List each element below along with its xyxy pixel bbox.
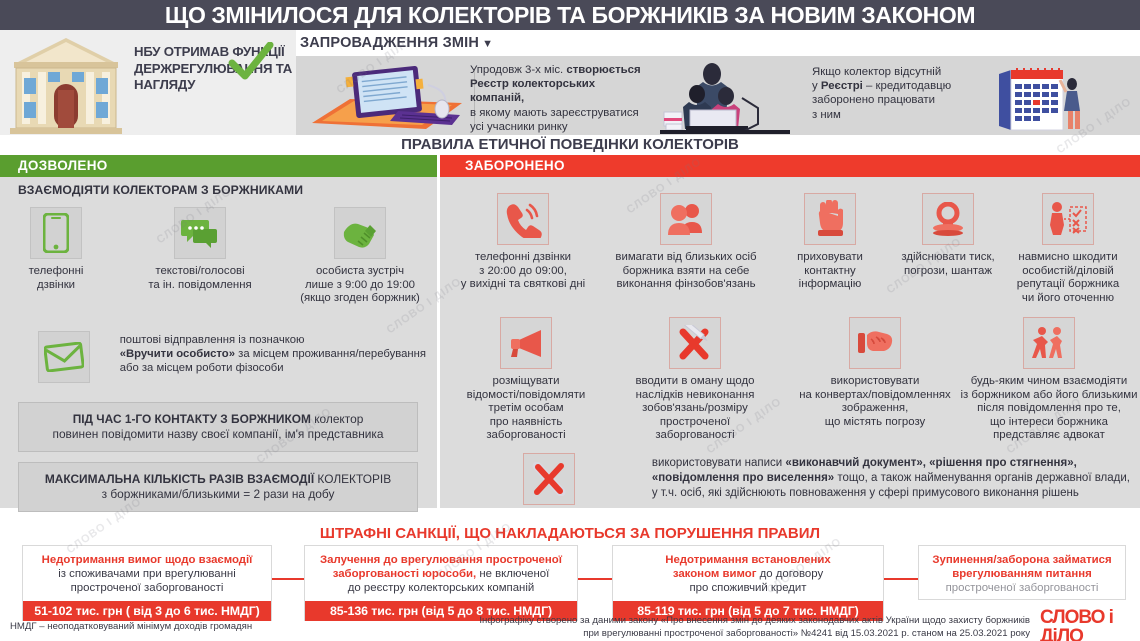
forbidden-item-reputation: навмисно шкодитиособистій/діловійрепутац…	[1002, 193, 1134, 305]
note2-bold: МАКСИМАЛЬНА КІЛЬКІСТЬ РАЗІВ ВЗАЄМОДІЇ	[45, 472, 314, 486]
allowed-note-max-contacts: МАКСИМАЛЬНА КІЛЬКІСТЬ РАЗІВ ВЗАЄМОДІЇ КО…	[18, 462, 418, 512]
forbidden-item-mislead: вводити в оману щодонаслідків невиконанн…	[610, 317, 780, 443]
source-note: Інфографіку створено за даними закону «П…	[380, 615, 1030, 640]
forbidden-item-wording: використовувати написи «виконавчий докум…	[460, 453, 1130, 505]
intro-2-l4: з ним	[812, 109, 841, 121]
slovoidilo-logo[interactable]: СЛОВО і ДіЛО	[1040, 608, 1134, 636]
wording-l3: у т.ч. осіб, які здійснюють повноваження…	[652, 487, 1079, 499]
forbidden-banner: ЗАБОРОНЕНО	[440, 155, 1140, 177]
note1-rest: колектор	[311, 412, 363, 426]
sanction-connector-2	[574, 578, 616, 580]
intro-text-1: Упродовж 3-х міс. створюється Реєстр кол…	[470, 63, 650, 134]
allowed-item-meeting: особиста зустрічлише з 9:00 до 19:00(якщ…	[285, 207, 435, 306]
sanction-1-red: Недотримання вимог щодо взаємодії	[42, 554, 253, 566]
forbidden-item-after-lawyer: будь-яким чином взаємодіятиіз боржником …	[960, 317, 1138, 443]
forbidden-caption-mislead: вводити в оману щодонаслідків невиконанн…	[610, 375, 780, 443]
sanction-card-2: Залучення до врегулювання простроченоїза…	[304, 545, 578, 621]
forbidden-caption-reputation: навмисно шкодитиособистій/діловійрепутац…	[1002, 251, 1134, 305]
wording-l2a: тощо, а також найменування органів держа…	[834, 472, 1130, 484]
sanction-card-4: Зупинення/заборона займатисяврегулювання…	[918, 545, 1126, 600]
person-checklist-icon	[1048, 201, 1088, 237]
intro-1-l1a: Упродовж 3-х міс.	[470, 64, 566, 76]
two-people-icon	[666, 202, 706, 236]
wording-l1a: використовувати написи	[652, 457, 786, 469]
office-team-icon	[660, 58, 790, 134]
wording-l1b: «виконавчий документ», «рішення про стяг…	[785, 457, 1076, 469]
forbidden-item-disclose: розміщувативідомості/повідомлятитретім о…	[446, 317, 606, 443]
calendar-icon	[993, 60, 1083, 132]
intro-1-l2: Реєстр колекторських компаній,	[470, 78, 595, 104]
forbidden-wording-text: використовувати написи «виконавчий докум…	[652, 453, 1130, 502]
logo-text: СЛОВО і ДіЛО	[1040, 608, 1134, 641]
note2-rest: КОЛЕКТОРІВ	[314, 472, 391, 486]
stamp-icon-box	[922, 193, 974, 245]
rules-band-title: ПРАВИЛА ЕТИЧНОЇ ПОВЕДІНКИ КОЛЕКТОРІВ	[0, 135, 1140, 155]
note2-line2: з боржниками/близькими = 2 рази на добу	[102, 487, 335, 501]
allowed-item-messages: текстові/голосовіта ін. повідомлення	[130, 207, 270, 292]
intro-2-l2a: у	[812, 80, 821, 92]
intro-1-l3: в якому мають зареєструватися	[470, 107, 639, 119]
fist-icon	[856, 327, 894, 359]
stop-hand-icon	[813, 200, 847, 238]
red-cross-pen-icon	[676, 325, 714, 361]
allowed-note-first-contact: ПІД ЧАС 1-ГО КОНТАКТУ З БОРЖНИКОМ колект…	[18, 402, 418, 452]
sanctions-title: ШТРАФНІ САНКЦІЇ, ЩО НАКЛАДАЮТЬСЯ ЗА ПОРУ…	[0, 524, 1140, 544]
chat-bubbles-icon-box	[174, 207, 226, 259]
sanction-4-red: Зупинення/заборона займатисяврегулювання…	[932, 554, 1111, 580]
phone-ringing-icon	[503, 200, 543, 238]
allowed-caption-phone: телефоннідзвінки	[16, 265, 96, 292]
forbidden-item-hide-contacts: приховуватиконтактнуінформацію	[770, 193, 890, 292]
intro-2-l1: Якщо колектор відсутній	[812, 66, 941, 78]
intro-2-l2b: Реєстрі	[821, 80, 863, 92]
intro-label-text: ЗАПРОВАДЖЕННЯ ЗМІН	[300, 35, 479, 51]
sanction-connector-3	[880, 578, 922, 580]
forbidden-item-relatives: вимагати від близьких осібборжника взяти…	[596, 193, 776, 292]
phone-ringing-icon-box	[497, 193, 549, 245]
allowed-caption-meeting: особиста зустрічлише з 9:00 до 19:00(якщ…	[285, 265, 435, 306]
green-check-icon	[228, 42, 274, 82]
chat-bubbles-icon	[181, 217, 219, 249]
red-cross-pen-icon-box	[669, 317, 721, 369]
allowed-column: ДОЗВОЛЕНО ВЗАЄМОДІЯТИ КОЛЕКТОРАМ З БОРЖН…	[0, 155, 437, 508]
note1-line2: повинен повідомити назву своєї компанії,…	[53, 427, 384, 441]
red-cross-icon	[532, 462, 566, 496]
sanction-4-dark: простроченої заборгованості	[946, 582, 1099, 594]
source-line-2: при врегулюванні простроченої заборгован…	[583, 628, 1030, 639]
allowed-mail-text: поштові відправлення із позначкою «Вручи…	[120, 331, 426, 383]
smartphone-icon-box	[30, 207, 82, 259]
two-people-icon-box	[660, 193, 712, 245]
allowed-item-mail: поштові відправлення із позначкою «Вручи…	[18, 331, 426, 383]
forbidden-caption-pressure: здійснювати тиск,погрози, шантаж	[888, 251, 1008, 278]
person-checklist-icon-box	[1042, 193, 1094, 245]
intro-2-l2c: – кредитодавцю	[863, 80, 951, 92]
mail-line-2-bold: «Вручити особисто»	[120, 348, 235, 360]
intro-text-2: Якщо колектор відсутній у Реєстрі – кред…	[812, 65, 1002, 122]
nbu-block: НБУ ОТРИМАВ ФУНКЦІЇ ДЕРЖРЕГУЛЮВАННЯ ТА Н…	[0, 30, 296, 135]
infographic-page: ЩО ЗМІНИЛОСЯ ДЛЯ КОЛЕКТОРІВ ТА БОРЖНИКІВ…	[0, 0, 1140, 641]
intro-1-l4: усі учасники ринку	[470, 121, 568, 133]
forbidden-item-pressure: здійснювати тиск,погрози, шантаж	[888, 193, 1008, 278]
handshake-icon-box	[334, 207, 386, 259]
forbidden-caption-threat-images: використовуватина конвертах/повідомлення…	[784, 375, 966, 429]
two-figures-walking-icon	[1031, 326, 1067, 360]
computer-workstation-icon	[302, 59, 470, 133]
stop-hand-icon-box	[804, 193, 856, 245]
forbidden-banner-label: ЗАБОРОНЕНО	[465, 155, 565, 177]
wording-l2b: «повідомлення про виселення»	[652, 472, 834, 484]
forbidden-caption-relatives: вимагати від близьких осібборжника взяти…	[596, 251, 776, 292]
chevron-down-icon: ▼	[482, 38, 493, 50]
two-figures-walking-icon-box	[1023, 317, 1075, 369]
nmdg-note: НМДГ – неоподатковуваний мінімум доходів…	[10, 621, 252, 632]
forbidden-caption-night-calls: телефонні дзвінкиз 20:00 до 09:00,у вихі…	[448, 251, 598, 292]
sanction-1-dark: із споживачами при врегулюванніпростроче…	[58, 568, 236, 594]
source-line-1: Інфографіку створено за даними закону «П…	[479, 615, 1030, 626]
megaphone-icon	[507, 327, 545, 359]
intro-1-l1b: створюється	[566, 64, 640, 76]
megaphone-icon-box	[500, 317, 552, 369]
stamp-icon	[930, 202, 966, 236]
envelope-icon	[44, 342, 84, 372]
intro-cell-1	[296, 56, 474, 135]
forbidden-caption-hide-contacts: приховуватиконтактнуінформацію	[770, 251, 890, 292]
sanction-card-1: Недотримання вимог щодо взаємодії із спо…	[22, 545, 272, 621]
intro-2-l3: заборонено працювати	[812, 94, 935, 106]
handshake-icon	[340, 216, 380, 250]
page-title: ЩО ЗМІНИЛОСЯ ДЛЯ КОЛЕКТОРІВ ТА БОРЖНИКІВ…	[0, 0, 1140, 30]
allowed-banner-label: ДОЗВОЛЕНО	[18, 155, 108, 177]
allowed-caption-messages: текстові/голосовіта ін. повідомлення	[130, 265, 270, 292]
sanction-connector-1	[268, 578, 308, 580]
forbidden-caption-after-lawyer: будь-яким чином взаємодіятиіз боржником …	[960, 375, 1138, 443]
intro-label: ЗАПРОВАДЖЕННЯ ЗМІН▼	[300, 35, 493, 51]
mail-line-2-rest: за місцем проживання/перебування	[235, 348, 426, 360]
note1-bold: ПІД ЧАС 1-ГО КОНТАКТУ З БОРЖНИКОМ	[73, 412, 311, 426]
allowed-item-phone: телефоннідзвінки	[16, 207, 96, 292]
forbidden-column: ЗАБОРОНЕНО телефонні дзвінкиз 20:00 до 0…	[440, 155, 1140, 508]
forbidden-item-threat-images: використовуватина конвертах/повідомлення…	[784, 317, 966, 429]
forbidden-caption-disclose: розміщувативідомості/повідомлятитретім о…	[446, 375, 606, 443]
mail-line-1: поштові відправлення із позначкою	[120, 334, 305, 346]
smartphone-icon	[43, 213, 69, 253]
sanction-card-3: Недотримання встановленихзаконом вимог д…	[612, 545, 884, 621]
forbidden-item-night-calls: телефонні дзвінкиз 20:00 до 09:00,у вихі…	[448, 193, 598, 292]
allowed-banner: ДОЗВОЛЕНО	[0, 155, 437, 177]
mail-line-3: або за місцем роботи фізособи	[120, 362, 284, 374]
bank-building-icon	[2, 32, 130, 134]
red-cross-icon-box	[523, 453, 575, 505]
sanction-1-amount: 51-102 тис. грн ( від 3 до 6 тис. НМДГ)	[23, 601, 271, 621]
envelope-icon-box	[38, 331, 90, 383]
allowed-subhead: ВЗАЄМОДІЯТИ КОЛЕКТОРАМ З БОРЖНИКАМИ	[18, 183, 303, 197]
fist-icon-box	[849, 317, 901, 369]
